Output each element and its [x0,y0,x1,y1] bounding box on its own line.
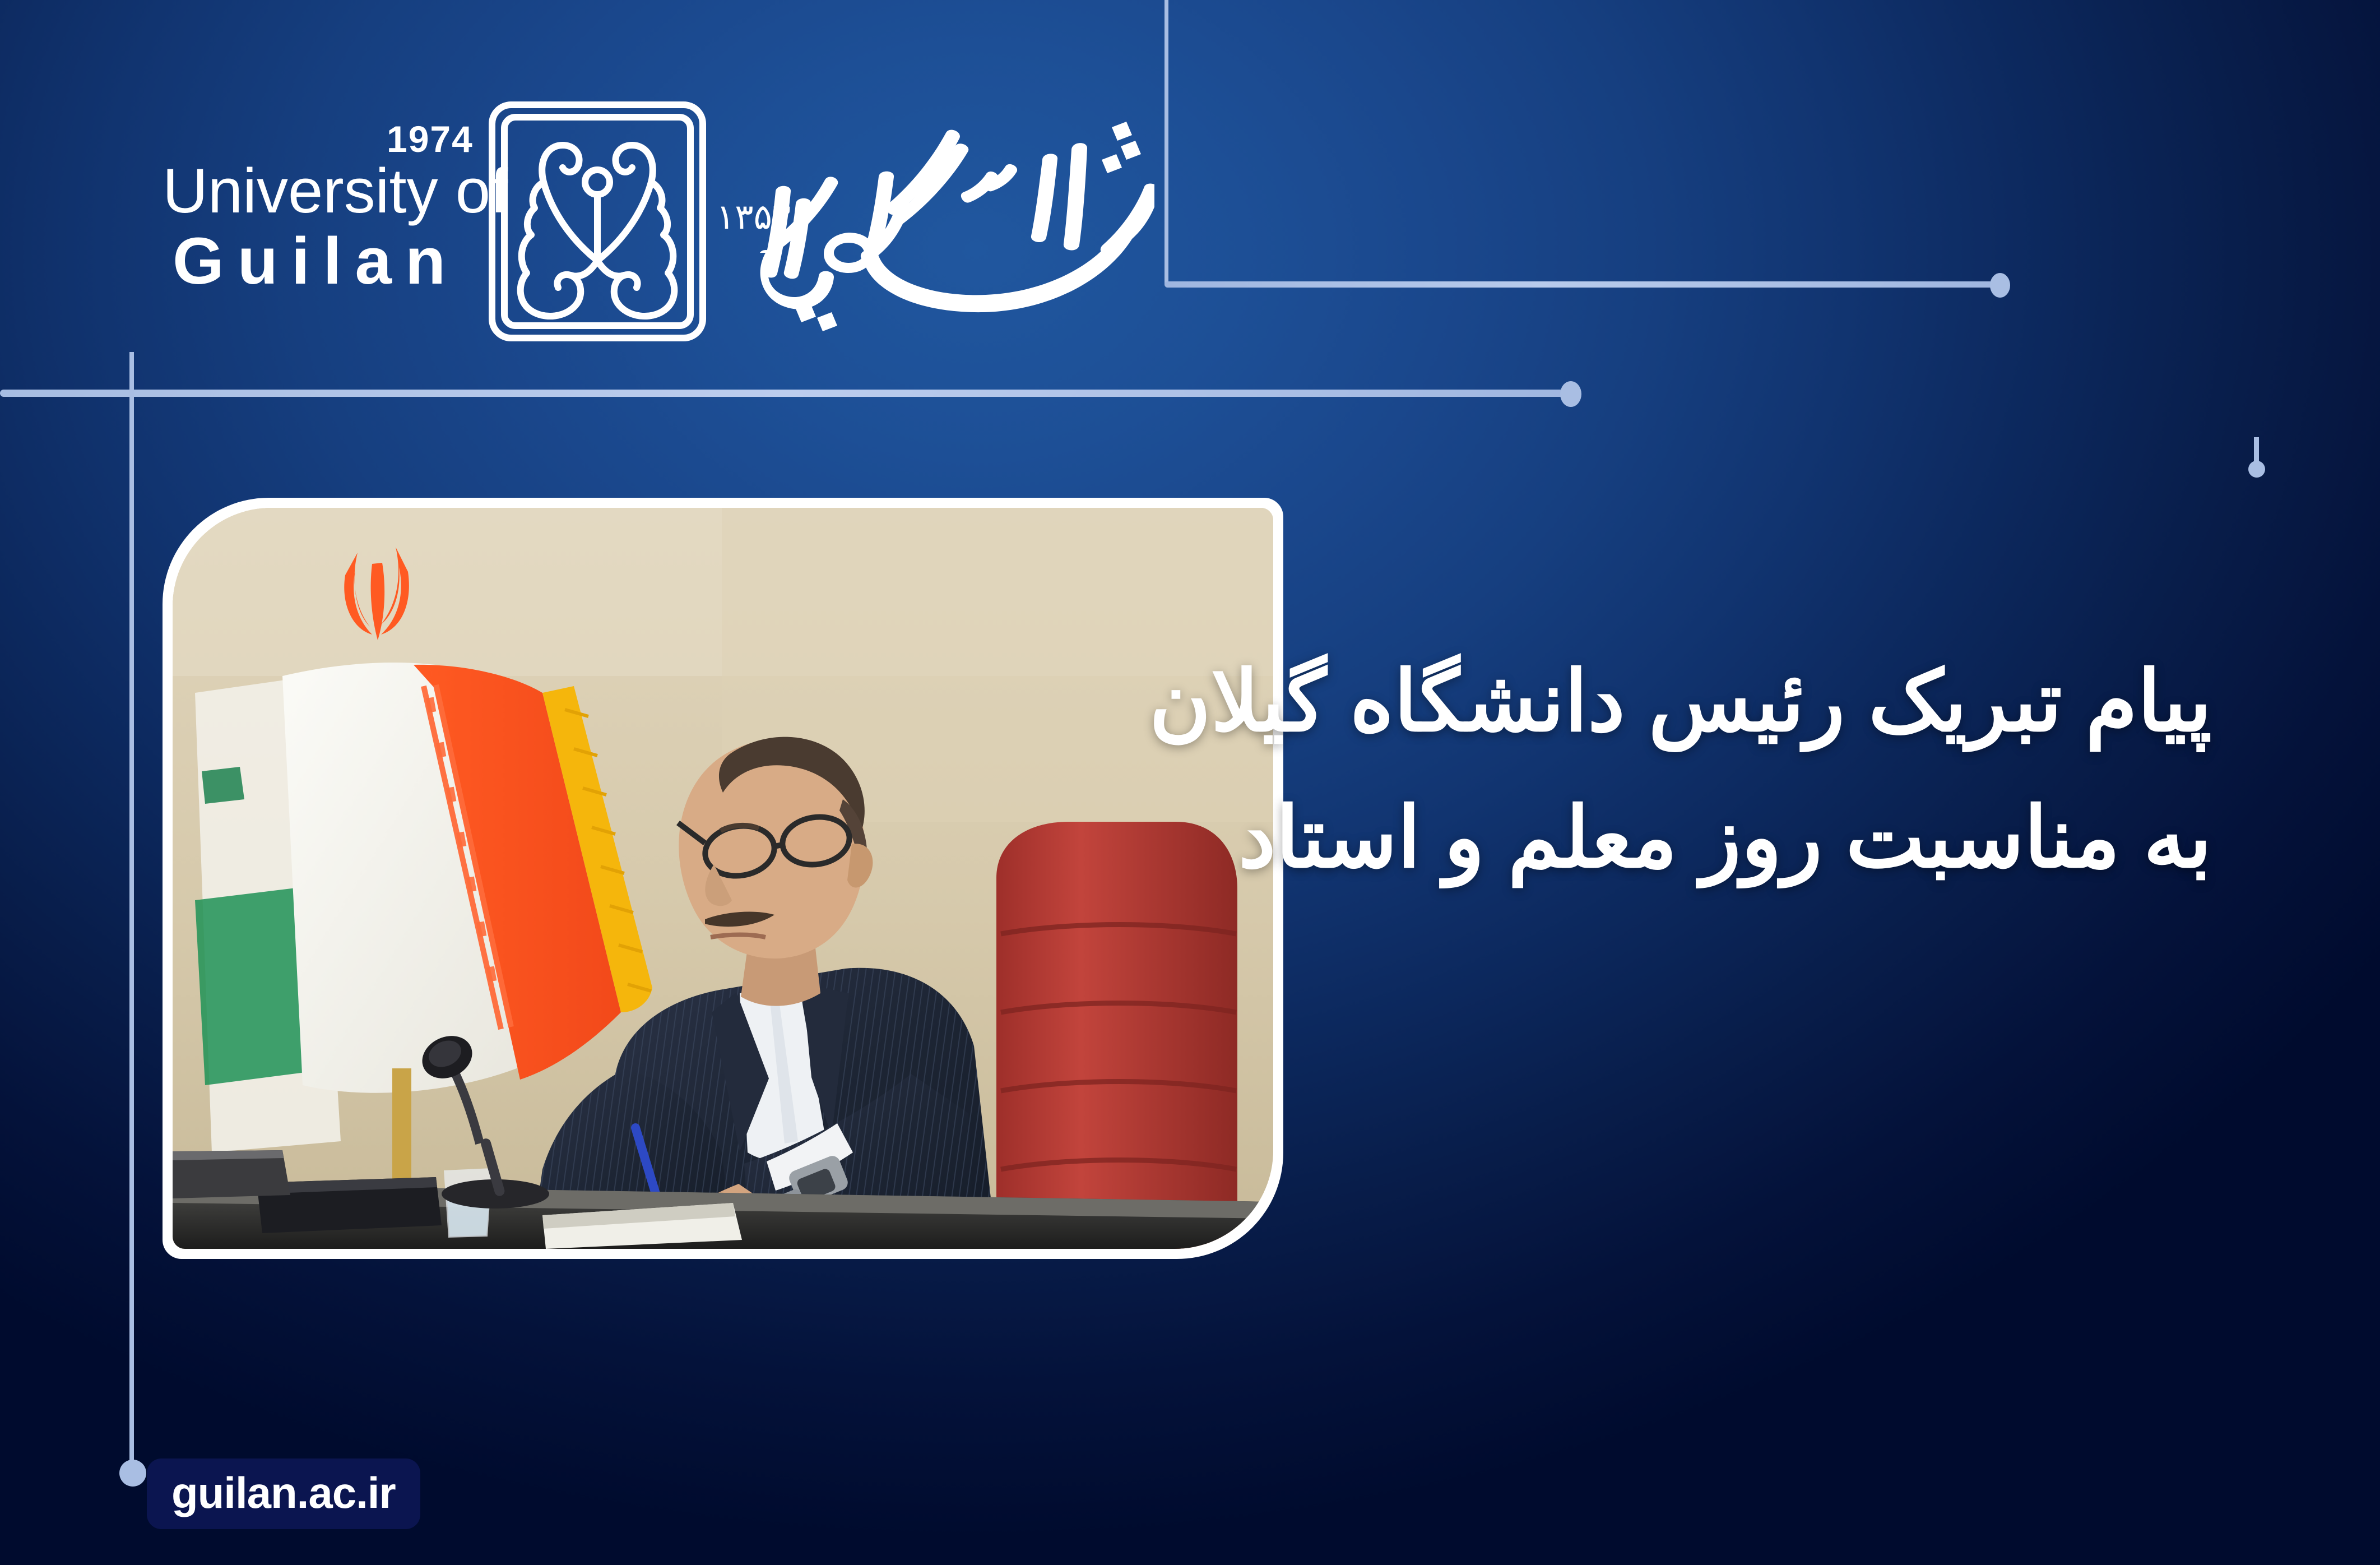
logo-founding-year-latin: 1974 [387,121,482,158]
president-photo-card [163,498,1283,1259]
decorative-dot-top-right [1990,273,2010,298]
headline: پیام تبریک رئیس دانشگاه گیلان به مناسبت … [1164,633,2212,906]
poster-canvas: 1974 University of Guilan [0,0,2380,1565]
decorative-dot-upper-left [1560,381,1581,407]
logo-persian-name [762,92,1154,339]
university-logo: 1974 University of Guilan [163,98,1149,356]
decorative-vertical-line-left [129,352,134,1476]
president-photo [173,508,1273,1249]
logo-university-of-text: University of [163,158,482,225]
logo-latin-wordmark: 1974 University of Guilan [163,121,482,298]
logo-persian-wordmark: ۱۳۵۳ [712,92,1154,356]
decorative-horizontal-line-upper-left [0,390,1575,397]
decorative-horizontal-line-top-right [1165,281,1999,288]
logo-guilan-text: Guilan [163,225,482,298]
decorative-dot-right [2248,461,2265,478]
headline-line-1: پیام تبریک رئیس دانشگاه گیلان [1164,633,2212,770]
decorative-vertical-line-top-right [1165,0,1168,285]
headline-line-2: به مناسبت روز معلم و استاد [1164,770,2212,906]
guilan-butterfly-emblem-icon [485,98,709,345]
decorative-dot-bottom-left [119,1460,146,1487]
website-url-badge[interactable]: guilan.ac.ir [147,1458,420,1529]
logo-founding-year-persian: ۱۳۵۳ [716,196,791,237]
decorative-vertical-line-right [2254,437,2259,471]
